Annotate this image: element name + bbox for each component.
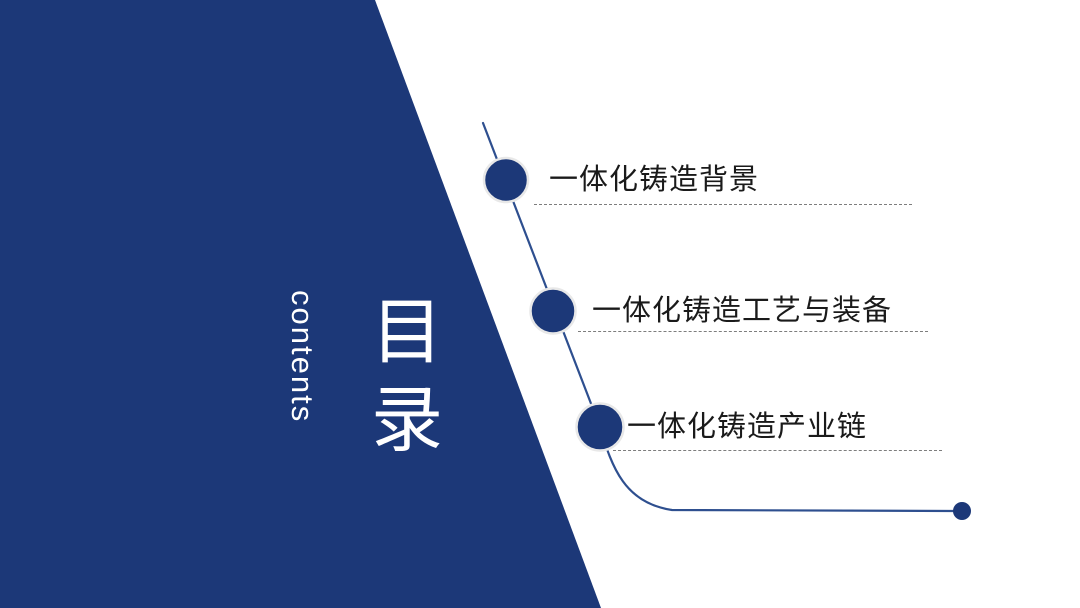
title-char-1: 目 (357, 288, 457, 376)
contents-english-label: contents (287, 290, 318, 423)
toc-item-1-label: 一体化铸造背景 (549, 162, 759, 196)
node-circle-3[interactable] (577, 404, 624, 451)
contents-slide: contents 目 录 一体化铸造背景 一体化铸造工艺与装备 一体化铸造产业链 (0, 0, 1080, 608)
title-block: contents 目 录 (150, 140, 380, 380)
toc-item-2-rule (578, 331, 928, 332)
toc-item-3-rule (613, 450, 942, 451)
toc-item-2-label: 一体化铸造工艺与装备 (592, 293, 892, 327)
node-circle-1[interactable] (484, 158, 528, 202)
page-title: 目 录 (357, 288, 457, 464)
node-circle-2[interactable] (531, 289, 576, 334)
toc-item-3-label: 一体化铸造产业链 (627, 409, 867, 443)
toc-item-1-rule (534, 204, 912, 205)
title-char-2: 录 (357, 376, 457, 464)
endpoint-dot (953, 502, 971, 520)
